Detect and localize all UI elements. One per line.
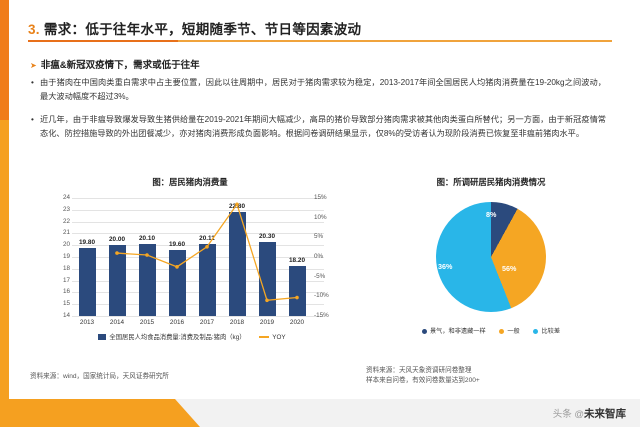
x-axis-tick: 2013 xyxy=(72,319,102,326)
brand-name: 未来智库 xyxy=(584,408,626,420)
paragraph-1: • 由于猪肉在中国肉类重白需求中占主要位置，因此以往周期中，居民对于猪肉需求较为… xyxy=(40,76,606,103)
x-axis-tick: 2018 xyxy=(222,319,252,326)
yoy-line-series xyxy=(46,198,338,316)
pie-legend: 景气，和非遗藏一样 一般 比较差 xyxy=(374,326,608,335)
triangle-icon: ➤ xyxy=(30,61,37,70)
x-axis-tick: 2020 xyxy=(282,319,312,326)
pie-legend-item-1: 一般 xyxy=(499,326,519,335)
pie-label-0: 8% xyxy=(486,210,496,219)
pie-chart-plot: 8% 36% 56% xyxy=(416,202,566,312)
x-axis-tick: 2017 xyxy=(192,319,222,326)
left-chart-caption: 图：居民猪肉消费量 xyxy=(30,176,350,188)
brand-watermark: 头条 @未来智库 xyxy=(553,406,626,421)
right-chart-panel: 图：所调研居民猪肉消费情况 8% 36% 56% 景气，和非遗藏一样 一般 比较… xyxy=(366,176,616,356)
pie-legend-dot-2 xyxy=(533,329,538,334)
pie-legend-label-1: 一般 xyxy=(507,328,519,335)
left-accent-bar-top xyxy=(0,0,9,120)
x-axis-tick: 2019 xyxy=(252,319,282,326)
pie-legend-item-0: 景气，和非遗藏一样 xyxy=(422,326,486,335)
slide-page: 3. 需求：低于往年水平，短期随季节、节日等因素波动 ➤非瘟&新冠双疫情下，需求… xyxy=(0,0,640,427)
legend-label-line: YOY xyxy=(272,334,285,341)
right-chart-caption: 图：所调研居民猪肉消费情况 xyxy=(366,176,616,188)
x-axis-tick: 2015 xyxy=(132,319,162,326)
paragraph-2: • 近几年，由于非瘟导致爆发导致生猪供给量在2019-2021年期间大幅减少，高… xyxy=(40,113,606,140)
pie-legend-dot-1 xyxy=(499,329,504,334)
left-chart-source: 资料来源：wind，国家统计局，天风证券研究所 xyxy=(30,372,169,382)
legend-label-bars: 全国居民人均食品消费量:消费及制品:猪肉（kg） xyxy=(109,334,245,341)
brand-prefix: 头条 @ xyxy=(553,409,584,420)
paragraph-2-text: 近几年，由于非瘟导致爆发导致生猪供给量在2019-2021年期间大幅减少，高昂的… xyxy=(40,115,606,138)
left-chart-legend: 全国居民人均食品消费量:消费及制品:猪肉（kg） YOY xyxy=(46,332,338,341)
section-number: 3. xyxy=(28,22,40,37)
page-title-text: 需求：低于往年水平，短期随季节、节日等因素波动 xyxy=(44,22,361,37)
pie-legend-label-2: 比较差 xyxy=(541,328,560,335)
x-axis-tick: 2014 xyxy=(102,319,132,326)
right-chart-source: 资料来源：天风天象资调研问卷整理 样本来自问卷，有效问卷数量达到200+ xyxy=(366,366,606,386)
title-divider xyxy=(28,40,612,42)
x-axis-tick: 2016 xyxy=(162,319,192,326)
left-chart-panel: 图：居民猪肉消费量 141516171819202122232415%10%5%… xyxy=(30,176,350,356)
legend-item-bars: 全国居民人均食品消费量:消费及制品:猪肉（kg） xyxy=(98,332,245,341)
bar-chart-plot: 141516171819202122232415%10%5%0%-5%-10%-… xyxy=(46,198,338,316)
page-title: 3. 需求：低于往年水平，短期随季节、节日等因素波动 xyxy=(28,18,361,38)
bullet-dot-icon: • xyxy=(31,113,34,127)
pie-legend-label-0: 景气，和非遗藏一样 xyxy=(430,328,486,335)
pie-label-2: 56% xyxy=(502,264,516,273)
legend-swatch-bars xyxy=(98,334,106,340)
lead-bullet-text: 非瘟&新冠双疫情下，需求或低于往年 xyxy=(41,60,200,71)
legend-item-line: YOY xyxy=(259,334,285,341)
footer-accent xyxy=(0,399,200,427)
footer-bar: 头条 @未来智库 xyxy=(0,399,640,427)
legend-swatch-line xyxy=(259,336,269,338)
pie-legend-dot-0 xyxy=(422,329,427,334)
lead-bullet: ➤非瘟&新冠双疫情下，需求或低于往年 xyxy=(30,57,200,71)
pie-label-1: 36% xyxy=(438,262,452,271)
pie-legend-item-2: 比较差 xyxy=(533,326,560,335)
bullet-dot-icon: • xyxy=(31,76,34,90)
gridline xyxy=(72,316,324,317)
paragraph-1-text: 由于猪肉在中国肉类重白需求中占主要位置，因此以往周期中，居民对于猪肉需求较为稳定… xyxy=(40,78,606,101)
